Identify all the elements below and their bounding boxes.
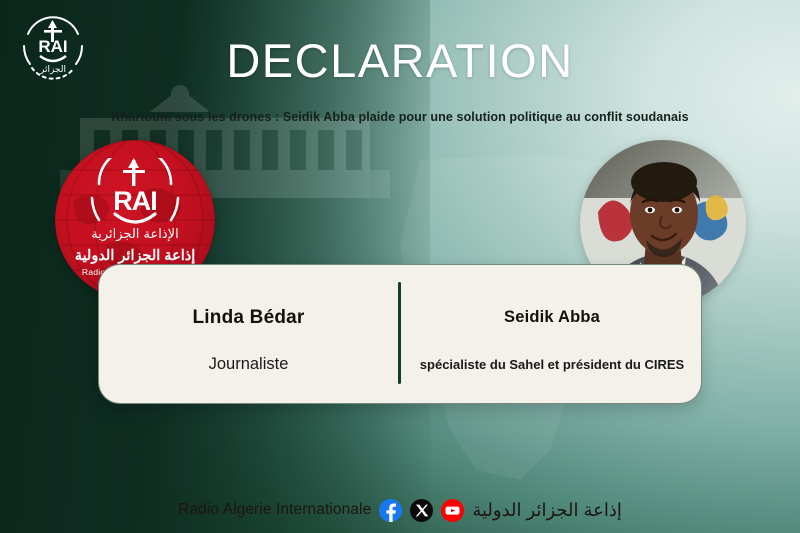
poster-canvas: RAI الجزائر DECLARATION Khartoum sous le… — [0, 0, 800, 533]
speakers-card: Linda Bédar Journaliste Seidik Abba spéc… — [98, 264, 702, 404]
page-subtitle: Khartoum sous les drones : Seidik Abba p… — [0, 110, 800, 124]
speaker-right-role: spécialiste du Sahel et président du CIR… — [401, 357, 703, 372]
svg-text:RAI: RAI — [113, 186, 157, 216]
badge-arabic-name: إذاعة الجزائر الدولية — [55, 248, 215, 264]
svg-text:الإذاعة الجزائرية: الإذاعة الجزائرية — [91, 227, 178, 242]
speaker-left: Linda Bédar Journaliste — [99, 265, 398, 405]
x-icon[interactable] — [410, 499, 433, 522]
footer-latin-text: Radio Algerie Internationale — [178, 501, 371, 519]
youtube-icon[interactable] — [441, 499, 464, 522]
footer-arabic-text: إذاعة الجزائر الدولية — [472, 500, 622, 521]
footer-bar: Radio Algerie Internationale إذاعة الجزا… — [0, 495, 800, 525]
page-title: DECLARATION — [0, 36, 800, 86]
speaker-left-role: Journaliste — [99, 355, 398, 374]
facebook-icon[interactable] — [379, 499, 402, 522]
speaker-right-name: Seidik Abba — [401, 308, 703, 327]
rai-mark-icon: RAI الإذاعة الجزائرية — [87, 158, 183, 244]
speaker-right: Seidik Abba spécialiste du Sahel et prés… — [401, 265, 703, 405]
speaker-left-name: Linda Bédar — [99, 307, 398, 329]
